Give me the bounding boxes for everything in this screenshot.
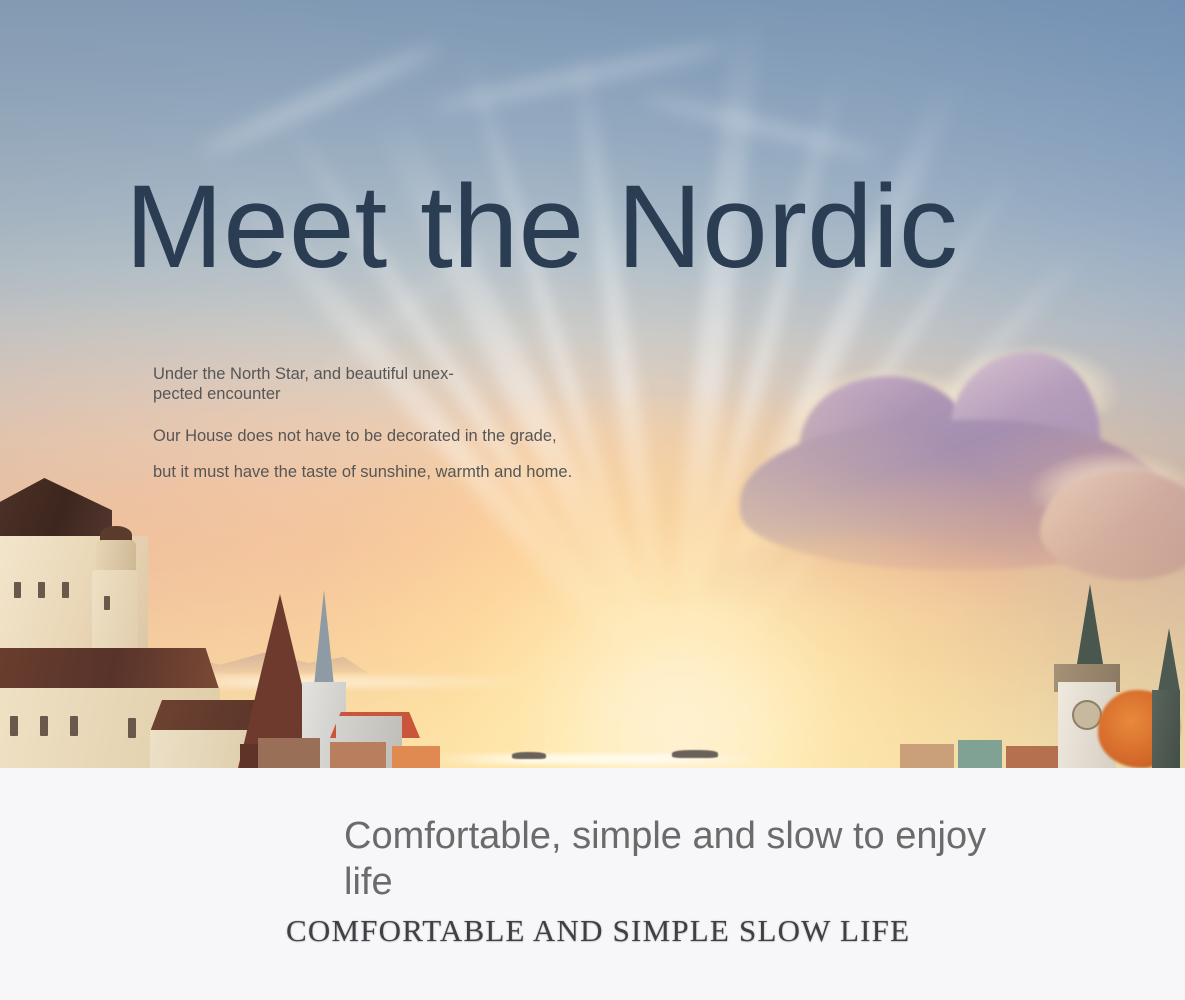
- hero-body-line-3: but it must have the taste of sunshine, …: [153, 462, 793, 482]
- hero-text-overlay: Meet the Nordic Under the North Star, an…: [0, 0, 1185, 768]
- hero-body-line-2: Our House does not have to be decorated …: [153, 426, 793, 446]
- hero-image: Meet the Nordic Under the North Star, an…: [0, 0, 1185, 768]
- hero-body-line-1b: pected encounter: [153, 385, 281, 403]
- hero-body-line-1a: Under the North Star, and beautiful unex…: [153, 365, 454, 383]
- page-title: Meet the Nordic: [125, 168, 958, 286]
- bottom-heading: Comfortable, simple and slow to enjoy li…: [344, 813, 1044, 906]
- bottom-subheading: COMFORTABLE AND SIMPLE SLOW LIFE: [286, 913, 910, 949]
- hero-body-copy: Under the North Star, and beautiful unex…: [153, 364, 793, 483]
- hero-banner-page: Meet the Nordic Under the North Star, an…: [0, 0, 1185, 1000]
- hero-body-line-1: Under the North Star, and beautiful unex…: [153, 364, 793, 404]
- bottom-caption-panel: Comfortable, simple and slow to enjoy li…: [0, 768, 1185, 1000]
